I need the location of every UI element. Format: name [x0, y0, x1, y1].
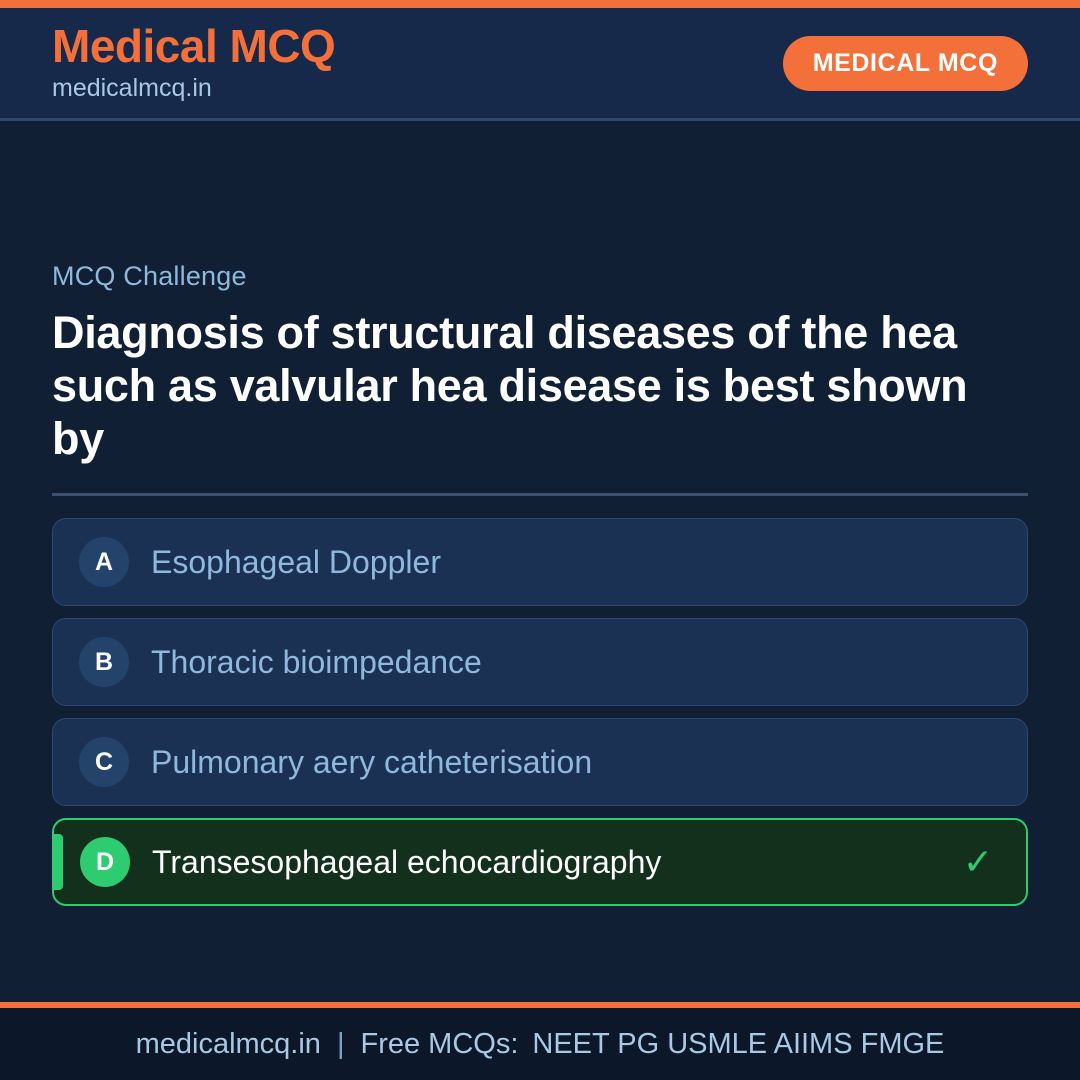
option-letter-badge-c: C [79, 737, 129, 787]
brand-title: Medical MCQ [52, 22, 335, 70]
top-accent-bar [0, 0, 1080, 8]
eyebrow-label: MCQ Challenge [52, 261, 1028, 292]
option-text-b: Thoracic bioimpedance [151, 643, 957, 681]
option-row-b[interactable]: B Thoracic bioimpedance [52, 618, 1028, 706]
mcq-card: Medical MCQ medicalmcq.in MEDICAL MCQ MC… [0, 0, 1080, 1080]
option-row-d-correct[interactable]: D Transesophageal echocardiography ✓ [52, 818, 1028, 906]
footer: medicalmcq.in | Free MCQs: NEET PG USMLE… [0, 1008, 1080, 1080]
main-content: MCQ Challenge Diagnosis of structural di… [0, 121, 1080, 1002]
option-row-a[interactable]: A Esophageal Doppler [52, 518, 1028, 606]
header: Medical MCQ medicalmcq.in MEDICAL MCQ [0, 8, 1080, 121]
option-letter-badge-d: D [80, 837, 130, 887]
question-divider [52, 493, 1028, 496]
options-list: A Esophageal Doppler B Thoracic bioimped… [52, 518, 1028, 906]
option-row-c[interactable]: C Pulmonary aery catheterisation [52, 718, 1028, 806]
option-text-c: Pulmonary aery catheterisation [151, 743, 957, 781]
footer-wrapper: medicalmcq.in | Free MCQs: NEET PG USMLE… [0, 1002, 1080, 1080]
footer-site: medicalmcq.in [136, 1028, 321, 1061]
checkmark-icon-d: ✓ [956, 841, 1000, 883]
option-text-d: Transesophageal echocardiography [152, 843, 956, 881]
footer-tagline: Free MCQs: [360, 1028, 518, 1061]
footer-separator: | [321, 1028, 361, 1061]
option-letter-badge-a: A [79, 537, 129, 587]
header-badge-pill: MEDICAL MCQ [783, 36, 1028, 91]
brand: Medical MCQ medicalmcq.in [52, 22, 335, 105]
option-letter-badge-b: B [79, 637, 129, 687]
option-text-a: Esophageal Doppler [151, 543, 957, 581]
correct-accent-bar [54, 834, 63, 890]
brand-subtitle: medicalmcq.in [52, 72, 335, 105]
question-text: Diagnosis of structural diseases of the … [52, 306, 1012, 465]
footer-exam-list: NEET PG USMLE AIIMS FMGE [518, 1028, 944, 1061]
